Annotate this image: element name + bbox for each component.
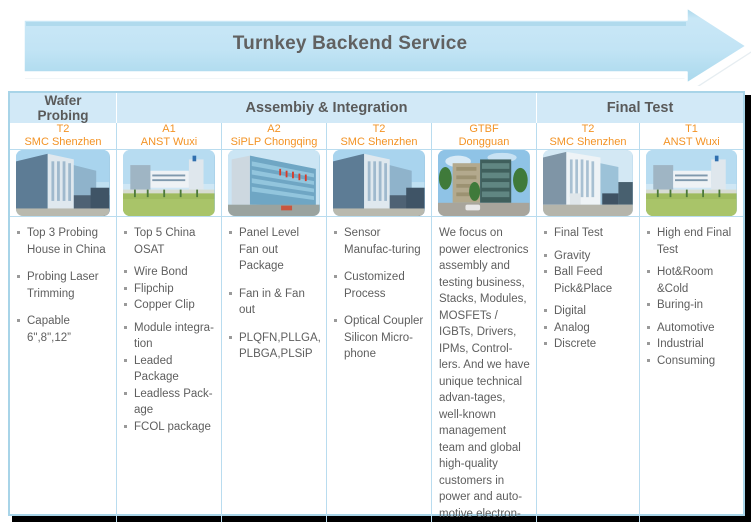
list-item-text: Fan in & Fan out	[239, 288, 305, 317]
site-name-5: SMC Shenzhen	[549, 136, 626, 149]
list-item-text: Consuming	[657, 355, 715, 367]
bullet-icon	[124, 392, 127, 395]
bullet-icon	[334, 319, 337, 322]
list-item-text: Wire Bond	[134, 266, 188, 278]
list-item-text: High end Final Test	[657, 227, 731, 256]
group-header-final-test: Final Test	[537, 93, 743, 123]
factory-building-photo-2	[228, 150, 320, 216]
list-item: Final Test	[544, 225, 635, 242]
bullet-list-1: Top 5 China OSAT Wire Bond Flipchip Copp…	[124, 225, 217, 435]
site-header-3: T2 SMC Shenzhen	[327, 123, 432, 149]
site-code-3: T2	[373, 123, 386, 136]
group-header-wafer-probing: Wafer Probing	[10, 93, 117, 123]
content-cell-6: High end Final Test Hot&Room &Cold Burin…	[640, 217, 743, 522]
list-item-text: Hot&Room &Cold	[657, 266, 713, 295]
list-item-text: Capable 6",8",12”	[27, 315, 71, 344]
factory-building-photo-0	[16, 150, 109, 216]
list-item: Panel Level Fan out Package	[229, 225, 322, 275]
site-code-1: A1	[162, 123, 175, 136]
bullet-icon	[647, 359, 650, 362]
site-name-0: SMC Shenzhen	[24, 136, 101, 149]
site-header-row: T2 SMC Shenzhen A1 ANST Wuxi A2 SiPLP Ch…	[10, 123, 743, 149]
site-code-6: T1	[685, 123, 698, 136]
bullet-icon	[124, 359, 127, 362]
list-item: Industrial	[647, 336, 739, 353]
bullet-icon	[544, 342, 547, 345]
list-item-text: Digital	[554, 305, 586, 317]
list-item-text: Gravity	[554, 250, 590, 262]
bullet-icon	[334, 275, 337, 278]
banner-title: Turnkey Backend Service	[0, 32, 700, 56]
list-item-text: FCOL package	[134, 421, 211, 433]
process-flow-table: Wafer Probing Assembiy & Integration Fin…	[8, 91, 745, 516]
banner-arrow: Turnkey Backend Service	[0, 4, 751, 86]
list-item: Buring-in	[647, 297, 739, 314]
bullet-icon	[544, 326, 547, 329]
site-name-1: ANST Wuxi	[141, 136, 197, 149]
group-label-line2: Probing	[38, 108, 89, 123]
list-item-text: Ball Feed Pick&Place	[554, 266, 612, 295]
factory-building-photo-6	[646, 150, 737, 216]
list-item: Consuming	[647, 353, 739, 370]
photo-cell-1	[117, 149, 222, 217]
bullet-list-5: Final Test Gravity Ball Feed Pick&Place …	[544, 225, 635, 353]
list-item: Leaded Package	[124, 353, 217, 386]
list-item: Digital	[544, 303, 635, 320]
bullet-icon	[17, 231, 20, 234]
list-item-text: Top 3 Probing House in China	[27, 227, 106, 256]
site-code-5: T2	[582, 123, 595, 136]
site-header-0: T2 SMC Shenzhen	[10, 123, 117, 149]
bullet-list-0: Top 3 Probing House in China Probing Las…	[17, 225, 112, 346]
factory-building-photo-3	[333, 150, 425, 216]
list-item-text: Customized Process	[344, 271, 405, 300]
factory-building-photo-5	[543, 150, 633, 216]
factory-building-photo-1	[123, 150, 215, 216]
site-header-6: T1 ANST Wuxi	[640, 123, 743, 149]
site-code-2: A2	[267, 123, 280, 136]
list-item: Probing Laser Trimming	[17, 269, 112, 302]
list-item: Customized Process	[334, 269, 427, 302]
list-item-text: Flipchip	[134, 283, 174, 295]
list-item-text: Discrete	[554, 338, 596, 350]
bullet-icon	[544, 270, 547, 273]
photo-cell-0	[10, 149, 117, 217]
bullet-icon	[647, 231, 650, 234]
list-item-text: Buring-in	[657, 299, 703, 311]
bullet-icon	[124, 326, 127, 329]
list-item-text: PLQFN,PLLGA, PLBGA,PLSiP	[239, 332, 321, 361]
content-cell-5: Final Test Gravity Ball Feed Pick&Place …	[537, 217, 640, 522]
bullet-icon	[124, 287, 127, 290]
bullet-list-6: High end Final Test Hot&Room &Cold Burin…	[647, 225, 739, 369]
list-item-text: Final Test	[554, 227, 603, 239]
list-item: Optical Coupler Silicon Micro-phone	[334, 313, 427, 363]
bullet-icon	[124, 303, 127, 306]
list-item-text: Top 5 China OSAT	[134, 227, 195, 256]
office-building-photo-4	[438, 150, 530, 216]
bullet-icon	[334, 231, 337, 234]
content-cell-2: Panel Level Fan out Package Fan in & Fan…	[222, 217, 327, 522]
photo-cell-2	[222, 149, 327, 217]
list-item: Copper Clip	[124, 297, 217, 314]
list-item: Gravity	[544, 248, 635, 265]
bullet-icon	[124, 270, 127, 273]
site-header-5: T2 SMC Shenzhen	[537, 123, 640, 149]
bullet-icon	[124, 231, 127, 234]
content-cell-1: Top 5 China OSAT Wire Bond Flipchip Copp…	[117, 217, 222, 522]
list-item: Hot&Room &Cold	[647, 264, 739, 297]
group-header-row: Wafer Probing Assembiy & Integration Fin…	[10, 93, 743, 123]
list-item: Fan in & Fan out	[229, 286, 322, 319]
list-item: Ball Feed Pick&Place	[544, 264, 635, 297]
description-paragraph: We focus on power electronics assembly a…	[439, 225, 532, 522]
site-header-2: A2 SiPLP Chongqing	[222, 123, 327, 149]
bullet-list-2: Panel Level Fan out Package Fan in & Fan…	[229, 225, 322, 363]
list-item: Leadless Pack-age	[124, 386, 217, 419]
site-header-1: A1 ANST Wuxi	[117, 123, 222, 149]
list-item: FCOL package	[124, 419, 217, 436]
list-item-text: Automotive	[657, 322, 715, 334]
bullet-icon	[229, 292, 232, 295]
list-item-text: Analog	[554, 322, 590, 334]
photo-cell-4	[432, 149, 537, 217]
list-item: Capable 6",8",12”	[17, 313, 112, 346]
content-cell-3: Sensor Manufac-turing Customized Process…	[327, 217, 432, 522]
group-label-line1: Wafer	[44, 93, 81, 108]
bullet-icon	[647, 342, 650, 345]
bullet-icon	[17, 319, 20, 322]
list-item-text: Panel Level Fan out Package	[239, 227, 299, 272]
bullet-icon	[17, 275, 20, 278]
bullet-icon	[124, 425, 127, 428]
content-cell-0: Top 3 Probing House in China Probing Las…	[10, 217, 117, 522]
site-name-2: SiPLP Chongqing	[231, 136, 318, 149]
bullet-icon	[544, 254, 547, 257]
list-item-text: Industrial	[657, 338, 704, 350]
list-item: Top 5 China OSAT	[124, 225, 217, 258]
photo-cell-3	[327, 149, 432, 217]
list-item: Wire Bond	[124, 264, 217, 281]
bullet-icon	[647, 303, 650, 306]
bullet-icon	[229, 336, 232, 339]
content-cell-4: We focus on power electronics assembly a…	[432, 217, 537, 522]
list-item-text: Probing Laser Trimming	[27, 271, 99, 300]
site-name-3: SMC Shenzhen	[340, 136, 417, 149]
list-item: Module integra-tion	[124, 320, 217, 353]
list-item: Top 3 Probing House in China	[17, 225, 112, 258]
site-header-4: GTBF Dongguan	[432, 123, 537, 149]
list-item: High end Final Test	[647, 225, 739, 258]
site-code-4: GTBF	[469, 123, 498, 136]
list-item: PLQFN,PLLGA, PLBGA,PLSiP	[229, 330, 322, 363]
site-name-6: ANST Wuxi	[663, 136, 719, 149]
bullet-icon	[647, 326, 650, 329]
bullet-icon	[229, 231, 232, 234]
bullet-icon	[647, 270, 650, 273]
list-item-text: Leaded Package	[134, 355, 179, 384]
bullet-icon	[544, 231, 547, 234]
photo-cell-6	[640, 149, 743, 217]
list-item-text: Optical Coupler Silicon Micro-phone	[344, 315, 423, 360]
list-item-text: Sensor Manufac-turing	[344, 227, 421, 256]
list-item-text: Leadless Pack-age	[134, 388, 213, 417]
site-code-0: T2	[57, 123, 70, 136]
slide-root: Turnkey Backend Service Wafer Probing As…	[0, 0, 751, 522]
list-item-text: Module integra-tion	[134, 322, 214, 351]
list-item: Analog	[544, 320, 635, 337]
group-header-assembly-integration: Assembiy & Integration	[117, 93, 537, 123]
bullet-icon	[544, 309, 547, 312]
site-photo-row	[10, 149, 743, 217]
photo-cell-5	[537, 149, 640, 217]
bullet-list-3: Sensor Manufac-turing Customized Process…	[334, 225, 427, 363]
list-item: Discrete	[544, 336, 635, 353]
site-name-4: Dongguan	[459, 136, 510, 149]
list-item: Sensor Manufac-turing	[334, 225, 427, 258]
list-item: Flipchip	[124, 281, 217, 298]
list-item: Automotive	[647, 320, 739, 337]
list-item-text: Copper Clip	[134, 299, 195, 311]
content-row: Top 3 Probing House in China Probing Las…	[10, 217, 743, 522]
